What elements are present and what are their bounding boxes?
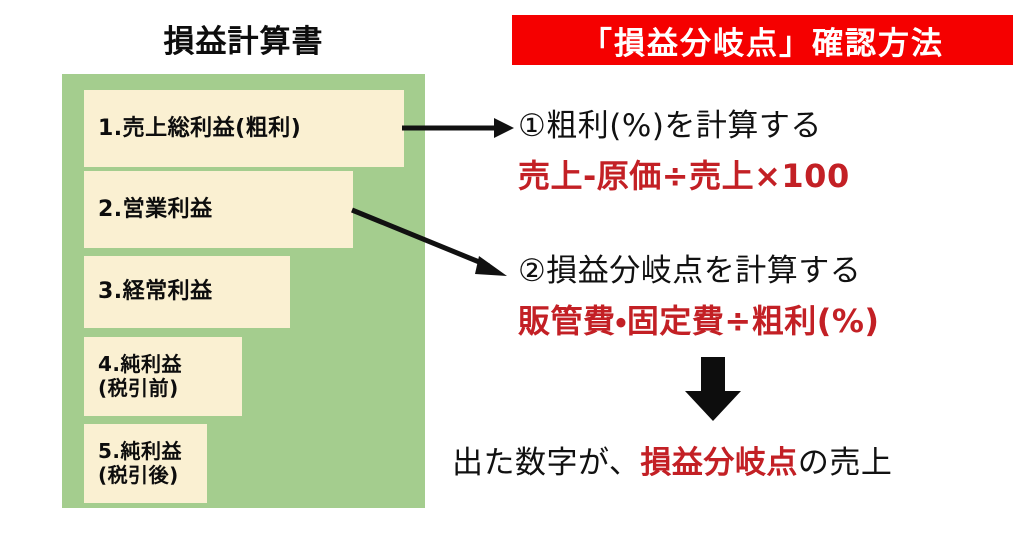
step-2-heading: ②損益分岐点を計算する [518, 245, 880, 290]
income-statement-title: 損益計算書 [62, 16, 425, 61]
step-2-block: ②損益分岐点を計算する 販管費・固定費÷粗利(%) [518, 245, 880, 342]
pl-item-net-profit-aftertax: 5.純利益 (税引後) [84, 424, 207, 503]
step-1-block: ①粗利(%)を計算する 売上-原価÷売上×100 [518, 100, 850, 197]
arrow-diagonal-down-right-icon [349, 204, 517, 284]
arrow-down-thick-icon [681, 357, 745, 423]
step-2-formula: 販管費・固定費÷粗利(%) [518, 296, 880, 342]
conclusion-text: 出た数字が、損益分岐点の売上 [452, 437, 892, 482]
pl-item-net-profit-pretax: 4.純利益 (税引前) [84, 337, 242, 416]
conclusion-highlight: 損益分岐点 [640, 445, 798, 481]
pl-item-operating-profit: 2.営業利益 [84, 171, 353, 248]
arrow-right-icon [400, 112, 520, 144]
method-banner-label: 「損益分岐点」確認方法 [581, 18, 944, 63]
conclusion-prefix: 出た数字が、 [452, 445, 640, 481]
pl-item-ordinary-profit: 3.経常利益 [84, 256, 290, 328]
diagram-canvas: 損益計算書 1.売上総利益(粗利) 2.営業利益 3.経常利益 4.純利益 (税… [0, 0, 1024, 538]
method-banner: 「損益分岐点」確認方法 [512, 15, 1013, 65]
step-1-heading: ①粗利(%)を計算する [518, 100, 850, 145]
pl-item-gross-profit: 1.売上総利益(粗利) [84, 90, 404, 167]
conclusion-suffix: の売上 [798, 445, 893, 481]
step-1-formula: 売上-原価÷売上×100 [518, 151, 850, 197]
